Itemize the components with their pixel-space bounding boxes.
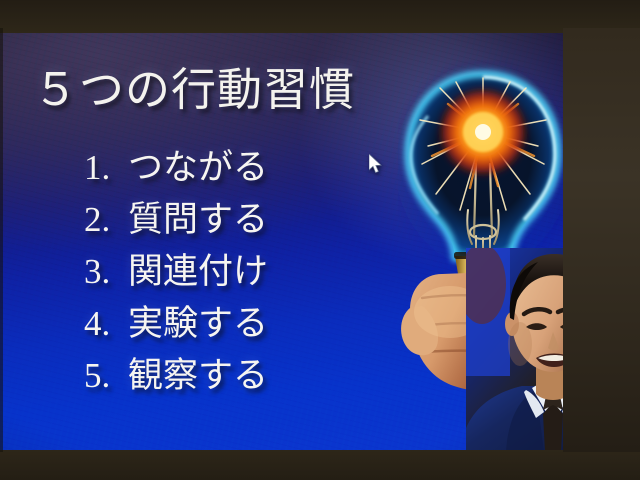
list-item-number: 3.	[84, 246, 128, 298]
list-item-label: つながる	[128, 148, 268, 187]
list-item: 3.関連付け	[84, 246, 268, 298]
list-item: 2.質問する	[84, 194, 268, 246]
letterbox-left	[0, 28, 3, 452]
list-item-number: 4.	[84, 298, 128, 350]
list-item-label: 質問する	[128, 200, 268, 239]
letterbox-bottom	[0, 450, 640, 480]
list-item: 1.つながる	[84, 142, 268, 194]
slide-title: ５つの行動習慣	[33, 68, 355, 113]
letterbox-top	[0, 0, 640, 33]
list-item-label: 実験する	[128, 304, 268, 343]
letterbox-right	[563, 28, 640, 452]
list-item-label: 関連付け	[128, 252, 268, 291]
screenshot-root: ５つの行動習慣 1.つながる 2.質問する 3.関連付け 4.実験する 5.観察…	[0, 0, 640, 480]
list-item-number: 1.	[84, 142, 128, 194]
list-item-number: 2.	[84, 194, 128, 246]
list-item-number: 5.	[84, 350, 128, 402]
list-item-label: 観察する	[128, 356, 268, 395]
list-item: 5.観察する	[84, 350, 268, 402]
habits-list: 1.つながる 2.質問する 3.関連付け 4.実験する 5.観察する	[84, 142, 268, 402]
list-item: 4.実験する	[84, 298, 268, 350]
mouse-pointer-icon	[369, 154, 383, 174]
